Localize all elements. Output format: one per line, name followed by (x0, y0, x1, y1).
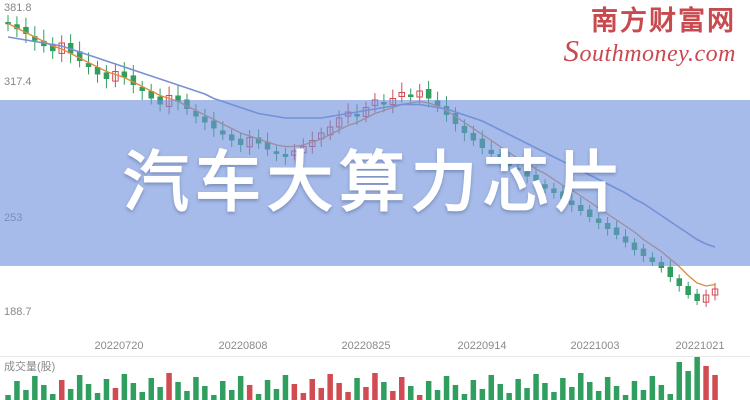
volume-bars-svg (0, 357, 750, 400)
volume-bar-series (5, 357, 718, 400)
volume-title: 成交量(股) (4, 358, 55, 374)
candlestick-series (5, 15, 718, 307)
x-axis-label-0: 20220720 (95, 340, 144, 352)
x-axis-label-2: 20220825 (342, 340, 391, 352)
price-chart-svg (0, 0, 750, 335)
y-axis-label-2: 317.4 (4, 76, 32, 88)
x-axis-label-5: 20221021 (676, 340, 725, 352)
y-axis-label-3: 381.8 (4, 2, 32, 14)
x-axis: 2022072020220808202208252022091420221003… (0, 334, 750, 356)
price-chart-plot: 381.8 317.4 253 188.7 (0, 0, 750, 335)
x-axis-label-4: 20221003 (571, 340, 620, 352)
y-axis-label-1: 253 (4, 212, 22, 224)
volume-subchart: 成交量(股) (0, 356, 750, 400)
x-axis-label-1: 20220808 (219, 340, 268, 352)
x-axis-label-3: 20220914 (458, 340, 507, 352)
y-axis-label-0: 188.7 (4, 306, 32, 318)
stock-chart-screenshot: 381.8 317.4 253 188.7 202207202022080820… (0, 0, 750, 400)
